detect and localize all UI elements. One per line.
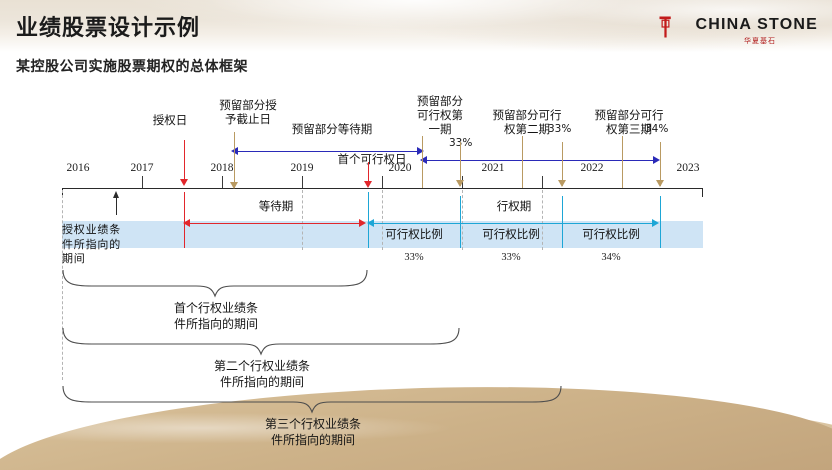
logo-stone-icon bbox=[658, 12, 673, 42]
logo-chinese-name: 华夏基石 bbox=[744, 36, 776, 46]
timeline-chart: 授权日 预留部分授 予截止日 预留部分等待期 预留部分 可行权第 一期 33% … bbox=[0, 80, 832, 470]
label-brace-2: 第二个行权业绩条 件所指向的期间 bbox=[214, 358, 310, 390]
page-title: 业绩股票设计示例 bbox=[16, 10, 200, 42]
logo-wordmark: CHINA STONE bbox=[695, 16, 818, 34]
label-brace-3: 第三个行权业绩条 件所指向的期间 bbox=[265, 416, 361, 448]
page-subtitle: 某控股公司实施股票期权的总体框架 bbox=[16, 56, 248, 76]
slide: 业绩股票设计示例 某控股公司实施股票期权的总体框架 CHINA STONE 华夏… bbox=[0, 0, 832, 470]
label-brace-1: 首个行权业绩条 件所指向的期间 bbox=[174, 300, 258, 332]
company-logo: CHINA STONE 华夏基石 bbox=[658, 14, 818, 50]
brace-group bbox=[0, 80, 832, 470]
